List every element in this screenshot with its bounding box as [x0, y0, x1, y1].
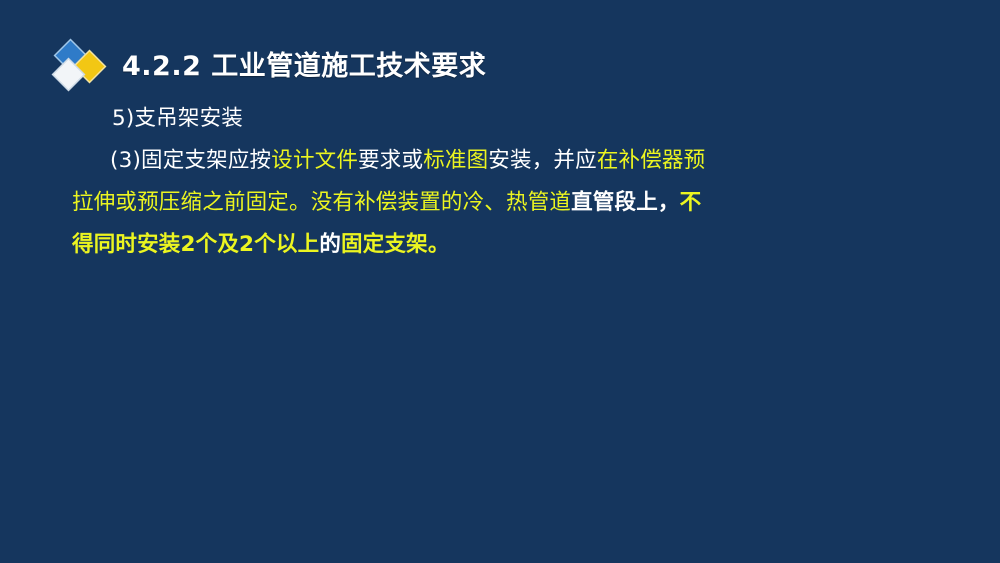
run-3: 标准图 [423, 148, 488, 173]
three-diamond-logo [52, 40, 110, 92]
body-paragraph: (3)固定支架应按设计文件要求或标准图安装，并应在补偿器预拉伸或预压缩之前固定。… [72, 140, 712, 266]
run-0: (3)固定支架应按 [110, 148, 271, 173]
run-6: 直管段上， [571, 190, 680, 215]
run-2: 要求或 [358, 148, 423, 173]
run-8: 的 [319, 232, 341, 257]
run-9: 固定支架。 [341, 232, 450, 257]
page-title: 4.2.2 工业管道施工技术要求 [122, 53, 486, 80]
slide-title-row: 4.2.2 工业管道施工技术要求 [52, 38, 486, 94]
slide-canvas: 4.2.2 工业管道施工技术要求 5)支吊架安装 (3)固定支架应按设计文件要求… [0, 0, 1000, 563]
slide-body: 5)支吊架安装 (3)固定支架应按设计文件要求或标准图安装，并应在补偿器预拉伸或… [72, 98, 712, 266]
run-1: 设计文件 [271, 148, 358, 173]
sub-heading: 5)支吊架安装 [72, 98, 712, 140]
run-4: 安装，并应 [488, 148, 597, 173]
